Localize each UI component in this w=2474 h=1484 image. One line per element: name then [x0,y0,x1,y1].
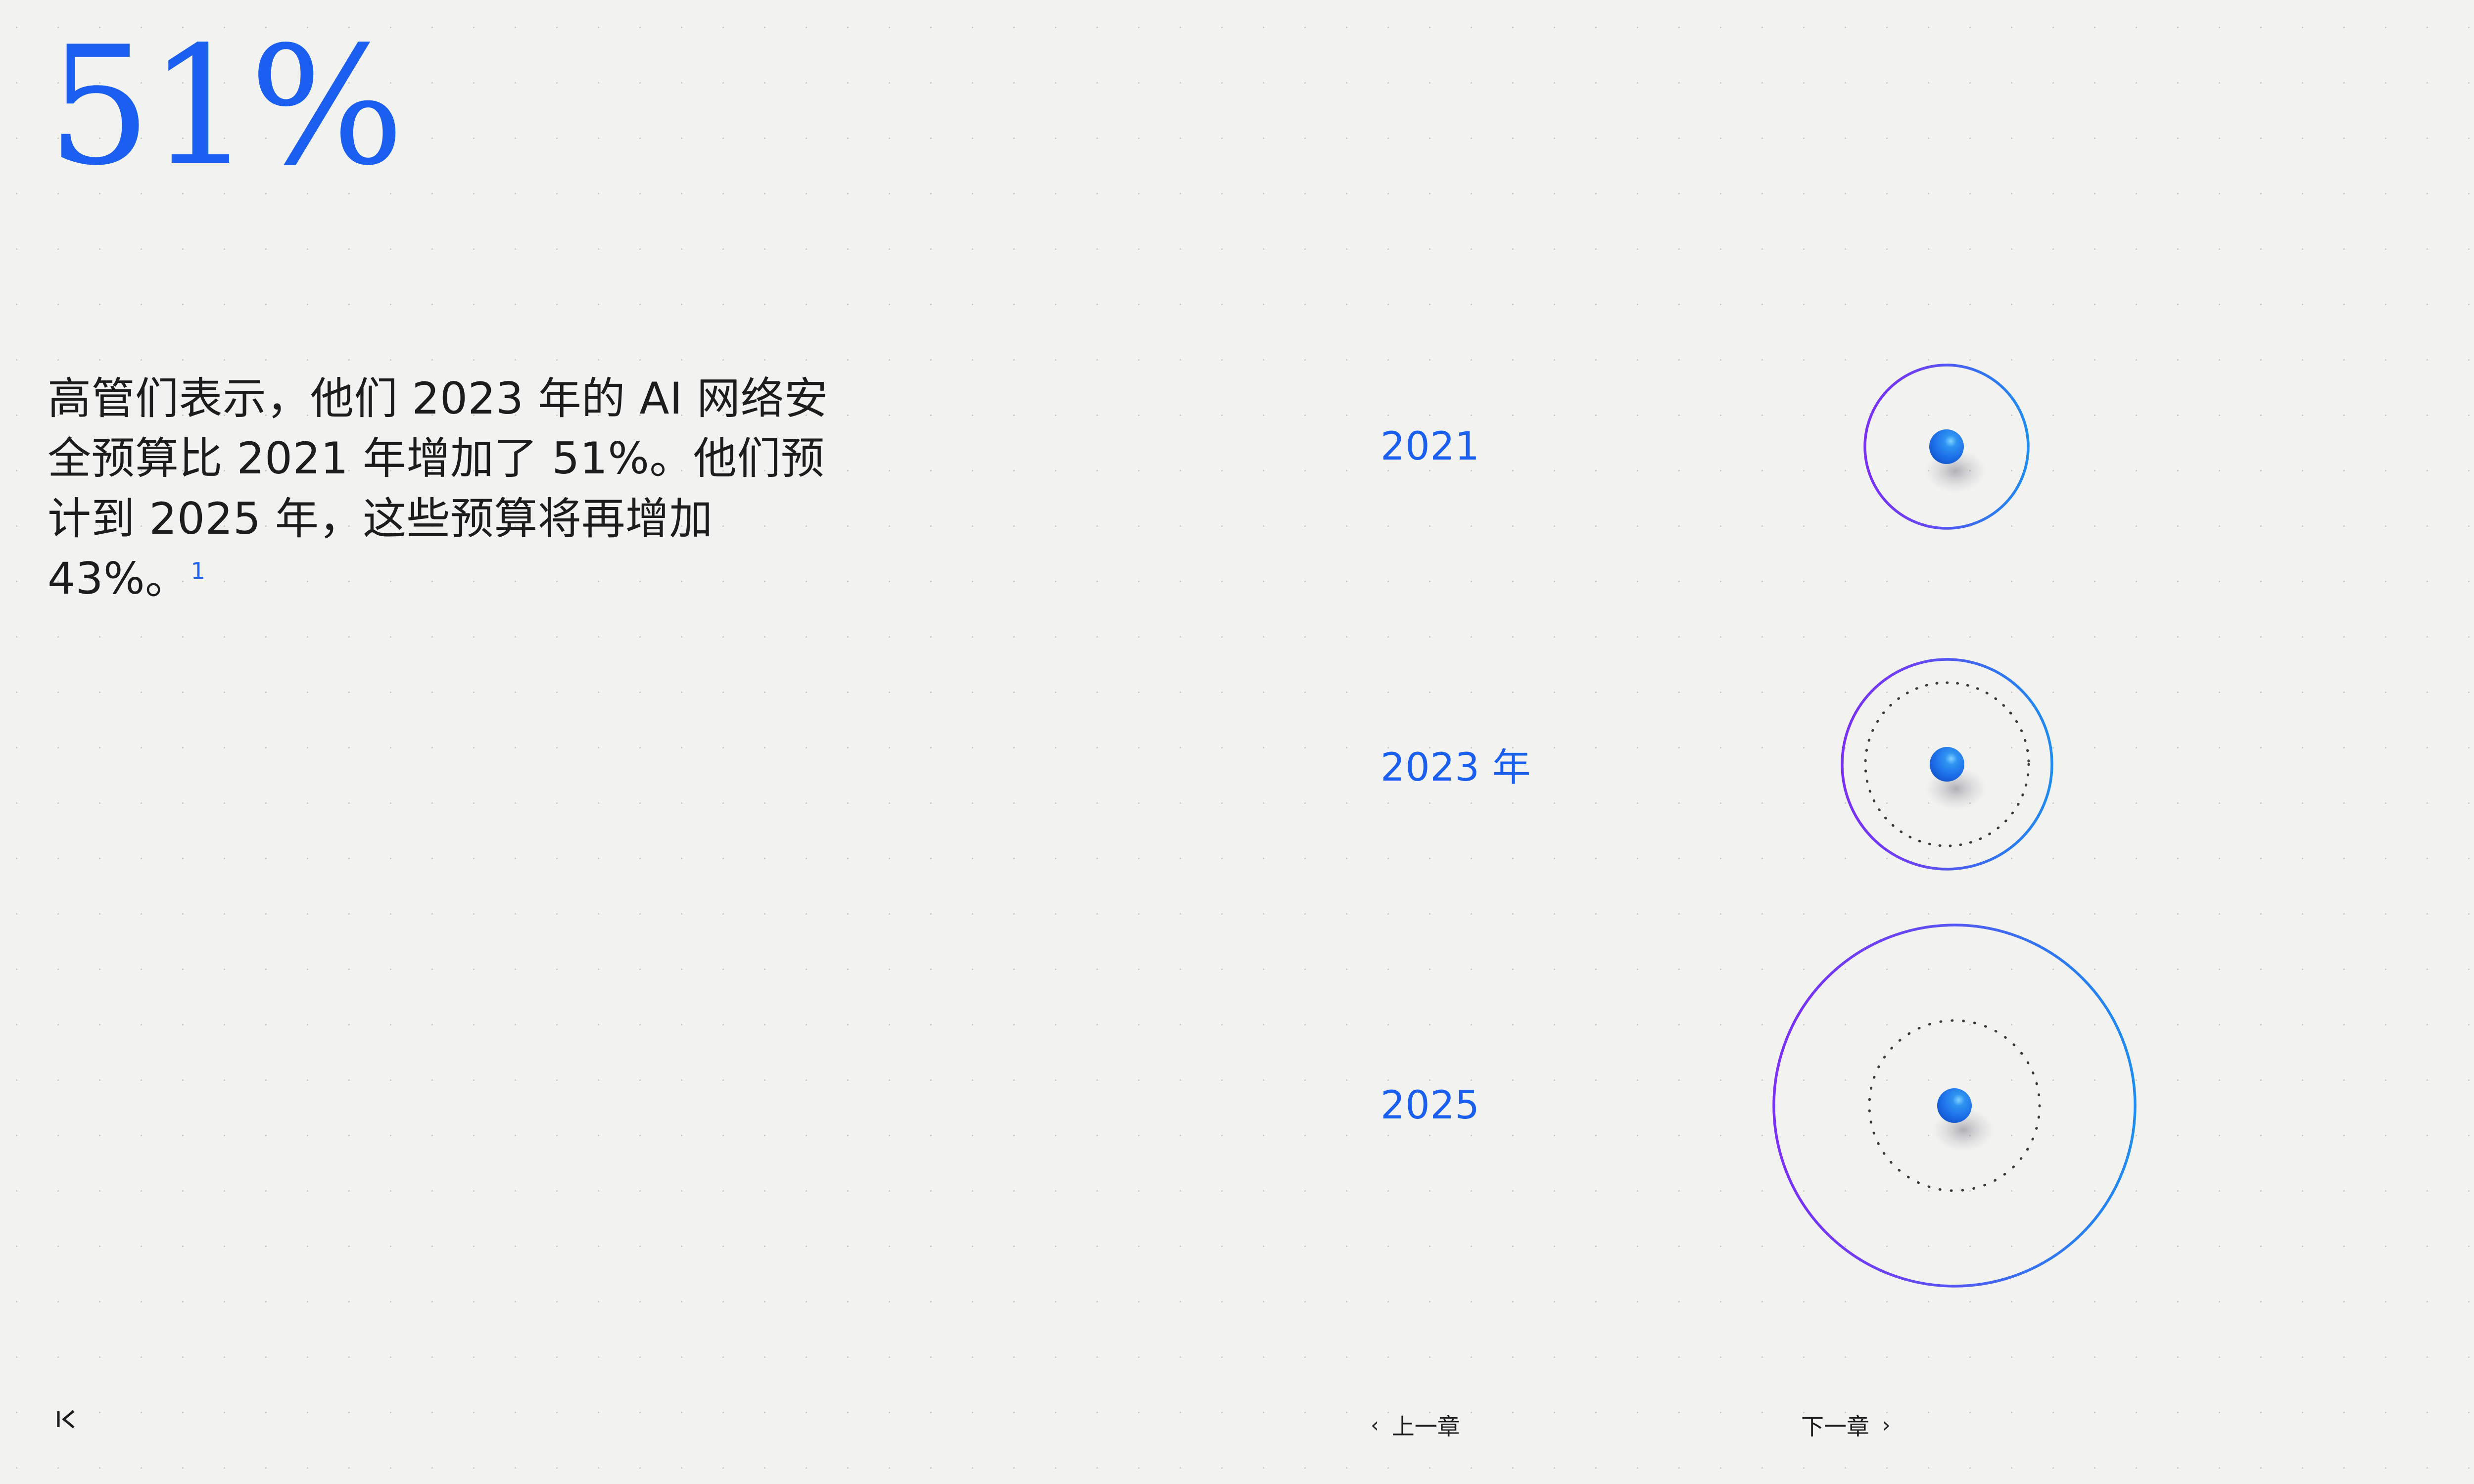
next-chapter-label: 下一章 [1801,1409,1869,1441]
previous-chapter-label: 上一章 [1392,1409,1460,1441]
body-text: 高管们表示，他们 2023 年的 AI 网络安全预算比 2021 年增加了 51… [48,373,828,604]
slide-canvas: 51% 高管们表示，他们 2023 年的 AI 网络安全预算比 2021 年增加… [0,0,2474,1484]
dotted-reference-ring-2023 [1865,683,2029,846]
bubble-group-2023[interactable] [1507,659,2052,869]
chevron-right-icon: › [1882,1415,1891,1436]
bubble-label-2025[interactable]: 2025 [1380,1083,1480,1128]
sphere-2021 [1929,429,1964,464]
bubble-group-2021[interactable] [1507,365,2028,528]
sphere-2023 [1930,747,1964,782]
outer-ring-2025 [1774,925,2135,1286]
outer-ring-2021 [1865,365,2028,528]
page-title: 51% [48,25,889,188]
dotted-reference-ring-2025 [1869,1020,2040,1191]
skip-to-start-icon [52,1404,82,1434]
sphere-shadow-2025 [1933,1108,1994,1152]
bubble-group-2025[interactable] [1507,925,2135,1286]
sphere-shadow-2023 [1925,767,1987,810]
skip-to-start-button[interactable] [49,1402,84,1437]
bubble-label-2023[interactable]: 2023 年 [1380,737,1531,792]
next-chapter-button[interactable]: 下一章 › [1801,1409,1891,1441]
bubble-label-2021[interactable]: 2021 [1380,424,1480,469]
dot-grid-background [0,0,2474,1484]
left-content-column: 51% [48,25,889,188]
sphere-shadow-2021 [1925,449,1986,493]
bottom-navigation-bar: ‹ 上一章 下一章 › 8 [0,1370,2474,1484]
footnote-reference[interactable]: 1 [191,557,206,584]
previous-chapter-button[interactable]: ‹ 上一章 [1371,1409,1460,1441]
body-paragraph: 高管们表示，他们 2023 年的 AI 网络安全预算比 2021 年增加了 51… [48,369,859,609]
bubble-comparison-chart [0,0,2474,1484]
sphere-2025 [1937,1088,1972,1123]
chevron-left-icon: ‹ [1371,1415,1379,1436]
outer-ring-2023 [1842,659,2052,869]
